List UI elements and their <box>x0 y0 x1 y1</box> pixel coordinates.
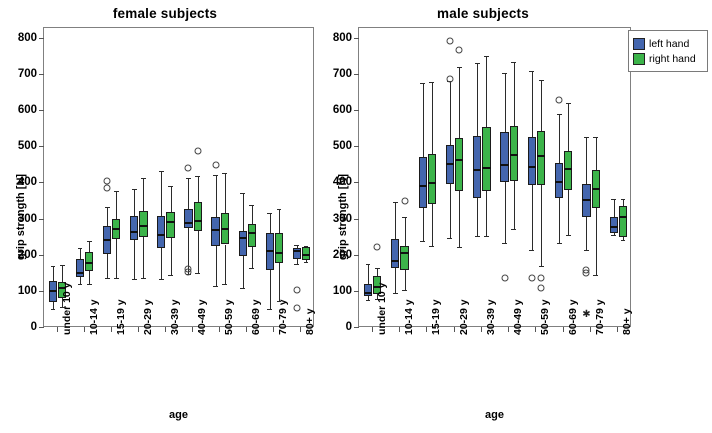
y-tick-label: 100 <box>5 285 37 297</box>
cap-lower <box>304 262 309 263</box>
cap-upper <box>105 207 110 208</box>
cap-upper <box>132 189 137 190</box>
x-tick-mark <box>454 327 455 332</box>
x-tick-label: 15-19 y <box>430 299 442 335</box>
cap-upper <box>141 178 146 179</box>
whisker-lower <box>270 270 271 309</box>
whisker-upper <box>586 137 587 184</box>
y-tick-label: 300 <box>5 213 37 225</box>
cap-upper <box>375 268 380 269</box>
outlier-point <box>583 267 590 274</box>
cap-lower <box>611 235 616 236</box>
cap-lower <box>51 309 56 310</box>
y-tick-label: 800 <box>320 32 352 44</box>
whisker-upper <box>243 193 244 231</box>
whisker-upper <box>541 80 542 131</box>
cap-lower <box>267 309 272 310</box>
median-line <box>446 163 454 165</box>
box-left[interactable] <box>610 217 618 233</box>
whisker-upper <box>368 264 369 284</box>
box-left[interactable] <box>157 216 165 248</box>
whisker-upper <box>279 209 280 233</box>
median-line <box>194 220 202 222</box>
y-tick-label: 700 <box>5 68 37 80</box>
whisker-upper <box>623 199 624 206</box>
cap-upper <box>621 199 626 200</box>
y-tick-mark <box>39 146 44 147</box>
x-tick-label: 60-69 y <box>567 299 579 335</box>
median-line <box>500 164 508 166</box>
whisker-upper <box>171 186 172 212</box>
median-line <box>455 159 463 161</box>
cap-upper <box>267 213 272 214</box>
y-tick-label: 800 <box>5 32 37 44</box>
box-right[interactable] <box>537 131 545 185</box>
outlier-point <box>501 274 508 281</box>
median-line <box>428 182 436 184</box>
x-tick-mark <box>426 327 427 332</box>
y-tick-mark <box>39 291 44 292</box>
y-tick-mark <box>354 182 359 183</box>
box-right[interactable] <box>482 127 490 191</box>
median-line <box>103 239 111 241</box>
whisker-lower <box>198 231 199 273</box>
median-line <box>391 260 399 262</box>
median-line <box>537 155 545 157</box>
whisker-lower <box>514 181 515 229</box>
outlier-point <box>185 165 192 172</box>
box-right[interactable] <box>248 224 256 247</box>
whisker-upper <box>161 171 162 216</box>
x-tick-label: 60-69 y <box>250 299 262 335</box>
box-left[interactable] <box>184 209 192 228</box>
y-tick-label: 100 <box>320 285 352 297</box>
median-line <box>510 154 518 156</box>
outlier-point <box>528 275 535 282</box>
y-tick-mark <box>39 182 44 183</box>
whisker-upper <box>116 191 117 219</box>
whisker-upper <box>432 82 433 154</box>
y-tick-mark <box>354 146 359 147</box>
whisker-lower <box>107 254 108 278</box>
median-line <box>211 229 219 231</box>
cap-upper <box>114 191 119 192</box>
cap-upper <box>51 266 56 267</box>
box-left[interactable] <box>239 231 247 256</box>
whisker-upper <box>559 114 560 163</box>
cap-lower <box>457 247 462 248</box>
cap-lower <box>502 243 507 244</box>
cap-lower <box>447 238 452 239</box>
cap-lower <box>429 246 434 247</box>
whisker-lower <box>541 185 542 266</box>
cap-upper <box>457 67 462 68</box>
y-tick-mark <box>354 38 359 39</box>
y-tick-mark <box>354 74 359 75</box>
cap-upper <box>539 80 544 81</box>
whisker-lower <box>225 245 226 284</box>
cap-upper <box>213 175 218 176</box>
y-tick-mark <box>354 255 359 256</box>
cap-upper <box>593 137 598 138</box>
whisker-lower <box>486 191 487 235</box>
whisker-upper <box>568 103 569 150</box>
x-tick-mark <box>138 327 139 332</box>
whisker-upper <box>188 178 189 209</box>
y-tick-mark <box>39 255 44 256</box>
whisker-lower <box>80 277 81 284</box>
cap-lower <box>132 279 137 280</box>
median-line <box>221 228 229 230</box>
x-tick-mark <box>57 327 58 332</box>
box-left[interactable] <box>391 239 399 268</box>
cap-upper <box>429 82 434 83</box>
cap-upper <box>294 245 299 246</box>
outlier-point <box>293 305 300 312</box>
y-tick-label: 200 <box>5 249 37 261</box>
cap-lower <box>87 284 92 285</box>
cap-upper <box>529 71 534 72</box>
cap-lower <box>621 240 626 241</box>
whisker-upper <box>532 71 533 138</box>
x-tick-mark <box>535 327 536 332</box>
cap-lower <box>78 284 83 285</box>
median-line <box>364 292 372 294</box>
x-tick-label: 40-49 y <box>512 299 524 335</box>
whisker-lower <box>459 191 460 246</box>
median-line <box>555 181 563 183</box>
x-tick-label: 70-79 y <box>277 299 289 335</box>
x-tick-label: under 10 y <box>376 282 388 335</box>
x-tick-label: 20-29 y <box>458 299 470 335</box>
whisker-lower <box>171 238 172 275</box>
cap-upper <box>78 248 83 249</box>
cap-upper <box>159 171 164 172</box>
y-tick-label: 0 <box>5 321 37 333</box>
cap-upper <box>484 56 489 57</box>
cap-lower <box>584 250 589 251</box>
y-tick-mark <box>39 327 44 328</box>
outlier-point <box>104 178 111 185</box>
x-tick-mark <box>399 327 400 332</box>
x-tick-mark <box>617 327 618 332</box>
y-tick-label: 600 <box>5 104 37 116</box>
whisker-lower <box>423 208 424 241</box>
box-left[interactable] <box>473 136 481 198</box>
figure-root: female subjects grip strength [N] age 01… <box>0 0 712 433</box>
x-axis-title-male: age <box>358 409 631 421</box>
cap-lower <box>294 264 299 265</box>
whisker-upper <box>198 176 199 202</box>
whisker-lower <box>116 239 117 277</box>
median-line <box>293 250 301 252</box>
median-line <box>166 221 174 223</box>
whisker-upper <box>459 67 460 138</box>
whisker-upper <box>505 73 506 132</box>
cap-upper <box>186 178 191 179</box>
y-tick-mark <box>39 110 44 111</box>
whisker-upper <box>89 241 90 251</box>
outlier-point <box>401 197 408 204</box>
outlier-point <box>185 266 192 273</box>
outlier-point <box>538 275 545 282</box>
median-line <box>482 167 490 169</box>
whisker-lower <box>596 208 597 275</box>
cap-upper <box>402 217 407 218</box>
outlier-point <box>446 75 453 82</box>
whisker-lower <box>477 198 478 236</box>
x-tick-mark <box>273 327 274 332</box>
legend-label-left-hand: left hand <box>649 38 689 50</box>
x-tick-label: 50-59 y <box>539 299 551 335</box>
whisker-lower <box>450 184 451 237</box>
x-tick-label: 10-14 y <box>88 299 100 335</box>
box-right[interactable] <box>166 212 174 238</box>
x-tick-label: 30-39 y <box>169 299 181 335</box>
cap-upper <box>222 173 227 174</box>
whisker-upper <box>450 81 451 145</box>
cap-lower <box>593 275 598 276</box>
cap-lower <box>213 286 218 287</box>
median-line <box>610 226 618 228</box>
cap-upper <box>557 114 562 115</box>
whisker-lower <box>532 185 533 249</box>
box-left[interactable] <box>500 132 508 182</box>
whisker-upper <box>377 268 378 276</box>
median-line <box>473 169 481 171</box>
whisker-upper <box>423 83 424 156</box>
whisker-lower <box>405 270 406 290</box>
cap-lower <box>114 278 119 279</box>
y-tick-label: 0 <box>320 321 352 333</box>
x-tick-mark <box>84 327 85 332</box>
panel-male: male subjects grip strength [N] ✱ age 01… <box>318 0 648 433</box>
cap-upper <box>87 241 92 242</box>
box-right[interactable] <box>428 154 436 204</box>
cap-upper <box>393 202 398 203</box>
x-tick-mark <box>590 327 591 332</box>
cap-upper <box>249 205 254 206</box>
median-line <box>619 216 627 218</box>
whisker-upper <box>395 202 396 239</box>
box-right[interactable] <box>619 206 627 237</box>
x-tick-mark <box>563 327 564 332</box>
cap-lower <box>159 279 164 280</box>
x-axis-title-female: age <box>43 409 314 421</box>
cap-lower <box>141 278 146 279</box>
cap-upper <box>511 62 516 63</box>
x-tick-mark <box>246 327 247 332</box>
whisker-lower <box>53 302 54 309</box>
median-line <box>85 262 93 264</box>
cap-lower <box>366 300 371 301</box>
outlier-point <box>194 147 201 154</box>
outlier-point <box>212 161 219 168</box>
x-tick-label: 80+ y <box>621 308 633 335</box>
cap-lower <box>105 278 110 279</box>
whisker-upper <box>216 175 217 217</box>
cap-lower <box>529 250 534 251</box>
whisker-lower <box>216 246 217 286</box>
cap-lower <box>393 293 398 294</box>
cap-upper <box>195 176 200 177</box>
whisker-lower <box>134 240 135 279</box>
x-tick-label: under 10 y <box>61 282 73 335</box>
whisker-upper <box>514 62 515 126</box>
median-line <box>400 252 408 254</box>
whisker-upper <box>477 63 478 136</box>
y-tick-label: 300 <box>320 213 352 225</box>
box-left[interactable] <box>130 216 138 240</box>
median-line <box>419 185 427 187</box>
cap-upper <box>240 193 245 194</box>
median-line <box>157 234 165 236</box>
y-tick-label: 500 <box>320 140 352 152</box>
box-left[interactable] <box>76 259 84 277</box>
box-left[interactable] <box>419 157 427 208</box>
legend-swatch-right-hand <box>633 53 645 65</box>
cap-lower <box>402 290 407 291</box>
outlier-point <box>446 38 453 45</box>
cap-upper <box>611 199 616 200</box>
median-line <box>266 250 274 252</box>
y-tick-label: 700 <box>320 68 352 80</box>
whisker-lower <box>395 268 396 293</box>
median-line <box>184 222 192 224</box>
box-left[interactable] <box>446 145 454 184</box>
y-tick-label: 600 <box>320 104 352 116</box>
legend-item-right-hand[interactable]: right hand <box>633 51 703 66</box>
whisker-upper <box>596 137 597 171</box>
median-line <box>302 254 310 256</box>
whisker-lower <box>586 217 587 249</box>
x-tick-mark <box>219 327 220 332</box>
whisker-upper <box>134 189 135 216</box>
median-line <box>528 166 536 168</box>
median-line <box>592 188 600 190</box>
cap-lower <box>475 236 480 237</box>
whisker-lower <box>432 204 433 246</box>
whisker-upper <box>107 207 108 226</box>
cap-lower <box>222 284 227 285</box>
outlier-point <box>374 244 381 251</box>
box-right[interactable] <box>194 202 202 231</box>
cap-upper <box>566 103 571 104</box>
cap-upper <box>502 73 507 74</box>
box-right[interactable] <box>455 138 463 192</box>
panel-female: female subjects grip strength [N] age 01… <box>0 0 330 433</box>
whisker-upper <box>80 248 81 259</box>
box-right[interactable] <box>400 246 408 271</box>
median-line <box>139 225 147 227</box>
x-tick-mark <box>300 327 301 332</box>
cap-lower <box>420 241 425 242</box>
box-right[interactable] <box>139 211 147 238</box>
x-tick-label: 80+ y <box>304 308 316 335</box>
cap-upper <box>60 265 65 266</box>
median-line <box>239 237 247 239</box>
whisker-lower <box>143 237 144 278</box>
cap-lower <box>539 266 544 267</box>
plot-area-female <box>43 27 314 327</box>
extreme-outlier-star: ✱ <box>582 310 590 320</box>
legend-swatch-left-hand <box>633 38 645 50</box>
y-tick-mark <box>39 38 44 39</box>
y-tick-mark <box>354 291 359 292</box>
median-line <box>582 199 590 201</box>
cap-upper <box>277 209 282 210</box>
whisker-lower <box>89 271 90 284</box>
legend: left hand right hand <box>628 30 708 72</box>
x-tick-mark <box>508 327 509 332</box>
cap-upper <box>584 137 589 138</box>
whisker-upper <box>62 265 63 282</box>
whisker-upper <box>53 266 54 281</box>
cap-lower <box>511 229 516 230</box>
legend-item-left-hand[interactable]: left hand <box>633 36 703 51</box>
whisker-upper <box>225 173 226 213</box>
outlier-point <box>456 47 463 54</box>
x-tick-label: 10-14 y <box>403 299 415 335</box>
x-tick-mark <box>372 327 373 332</box>
whisker-upper <box>486 56 487 127</box>
whisker-upper <box>270 213 271 233</box>
x-tick-label: 70-79 y <box>594 299 606 335</box>
cap-lower <box>240 288 245 289</box>
panel-title-female: female subjects <box>0 6 330 21</box>
median-line <box>564 168 572 170</box>
x-tick-mark <box>192 327 193 332</box>
whisker-upper <box>614 199 615 217</box>
whisker-lower <box>505 182 506 243</box>
whisker-lower <box>279 263 280 301</box>
whisker-upper <box>143 178 144 211</box>
x-tick-mark <box>165 327 166 332</box>
outlier-point <box>538 285 545 292</box>
box-left[interactable] <box>528 137 536 185</box>
whisker-upper <box>252 205 253 224</box>
x-tick-mark <box>481 327 482 332</box>
y-tick-label: 400 <box>5 176 37 188</box>
whisker-lower <box>568 190 569 236</box>
outlier-point <box>104 185 111 192</box>
legend-label-right-hand: right hand <box>649 53 696 65</box>
x-tick-label: 30-39 y <box>485 299 497 335</box>
cap-lower <box>168 275 173 276</box>
cap-lower <box>195 273 200 274</box>
y-tick-mark <box>39 219 44 220</box>
whisker-lower <box>559 198 560 244</box>
y-tick-label: 500 <box>5 140 37 152</box>
x-tick-label: 40-49 y <box>196 299 208 335</box>
whisker-lower <box>161 248 162 279</box>
panel-title-male: male subjects <box>318 6 648 21</box>
median-line <box>275 252 283 254</box>
whisker-upper <box>405 217 406 246</box>
y-tick-label: 400 <box>320 176 352 188</box>
median-line <box>112 228 120 230</box>
outlier-point <box>293 287 300 294</box>
y-tick-mark <box>354 110 359 111</box>
cap-lower <box>484 236 489 237</box>
x-tick-label: 50-59 y <box>223 299 235 335</box>
cap-upper <box>366 264 371 265</box>
x-tick-label: 15-19 y <box>115 299 127 335</box>
y-tick-mark <box>39 74 44 75</box>
median-line <box>248 232 256 234</box>
box-right[interactable] <box>275 233 283 263</box>
x-tick-mark <box>111 327 112 332</box>
